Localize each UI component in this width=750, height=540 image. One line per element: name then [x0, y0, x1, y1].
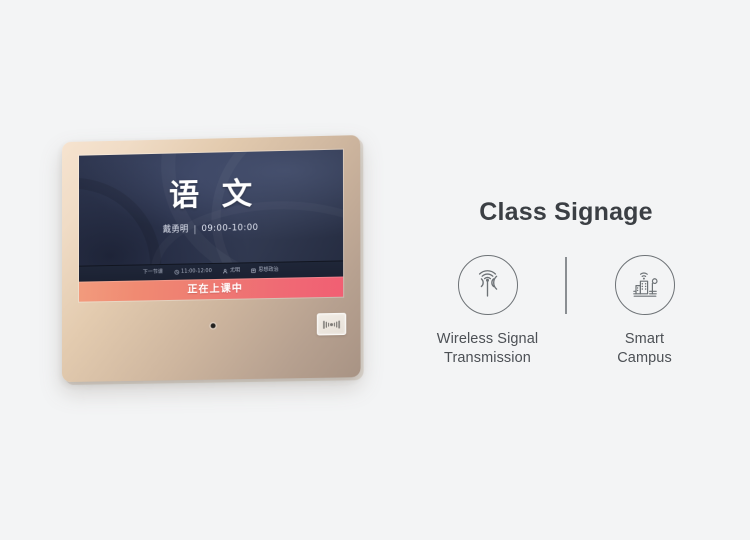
- class-signage-device: 语 文 戴勇明 09:00-10:00 下一节课: [62, 135, 361, 382]
- smart-campus-icon: [615, 255, 675, 315]
- device-area: 语 文 戴勇明 09:00-10:00 下一节课: [62, 142, 362, 390]
- next-class-time: 11:00-12:00: [181, 268, 212, 276]
- screen-main-panel: 语 文 戴勇明 09:00-10:00: [79, 150, 343, 266]
- next-class-teacher-item: 尤明: [223, 267, 240, 274]
- feature-label-smart-campus: Smart Campus: [617, 330, 672, 368]
- page-root: 语 文 戴勇明 09:00-10:00 下一节课: [0, 0, 750, 540]
- device-screen: 语 文 戴勇明 09:00-10:00 下一节课: [79, 150, 343, 302]
- nfc-reader-icon[interactable]: [317, 313, 346, 336]
- class-status-text: 正在上课中: [186, 282, 242, 296]
- class-time-range: 09:00-10:00: [201, 223, 258, 235]
- wireless-signal-icon: [458, 255, 518, 315]
- clock-icon: [174, 270, 179, 275]
- person-icon: [223, 269, 228, 274]
- teacher-name: 戴勇明: [163, 224, 189, 236]
- next-class-teacher: 尤明: [230, 267, 240, 274]
- book-icon: [251, 268, 256, 273]
- feature-smart-campus: Smart Campus: [578, 255, 711, 368]
- feature-label-wireless-signal: Wireless Signal Transmission: [437, 330, 538, 368]
- next-class-label: 下一节课: [143, 269, 163, 276]
- camera-dot-icon: [211, 323, 216, 328]
- next-class-subject-item: 思想政治: [251, 267, 278, 275]
- feature-divider: [565, 257, 567, 314]
- class-status-banner: 正在上课中: [79, 277, 343, 302]
- current-subject-title: 语 文: [79, 176, 343, 216]
- next-class-subject: 思想政治: [258, 267, 278, 274]
- next-class-time-item: 11:00-12:00: [174, 268, 212, 276]
- next-class-label-item: 下一节课: [143, 269, 163, 276]
- info-panel: Class Signage: [420, 196, 712, 368]
- feature-list: Wireless Signal Transmission: [420, 255, 712, 368]
- feature-wireless-signal: Wireless Signal Transmission: [421, 255, 554, 368]
- current-class-meta: 戴勇明 09:00-10:00: [79, 221, 343, 238]
- page-title: Class Signage: [420, 196, 712, 228]
- meta-separator: [194, 225, 195, 234]
